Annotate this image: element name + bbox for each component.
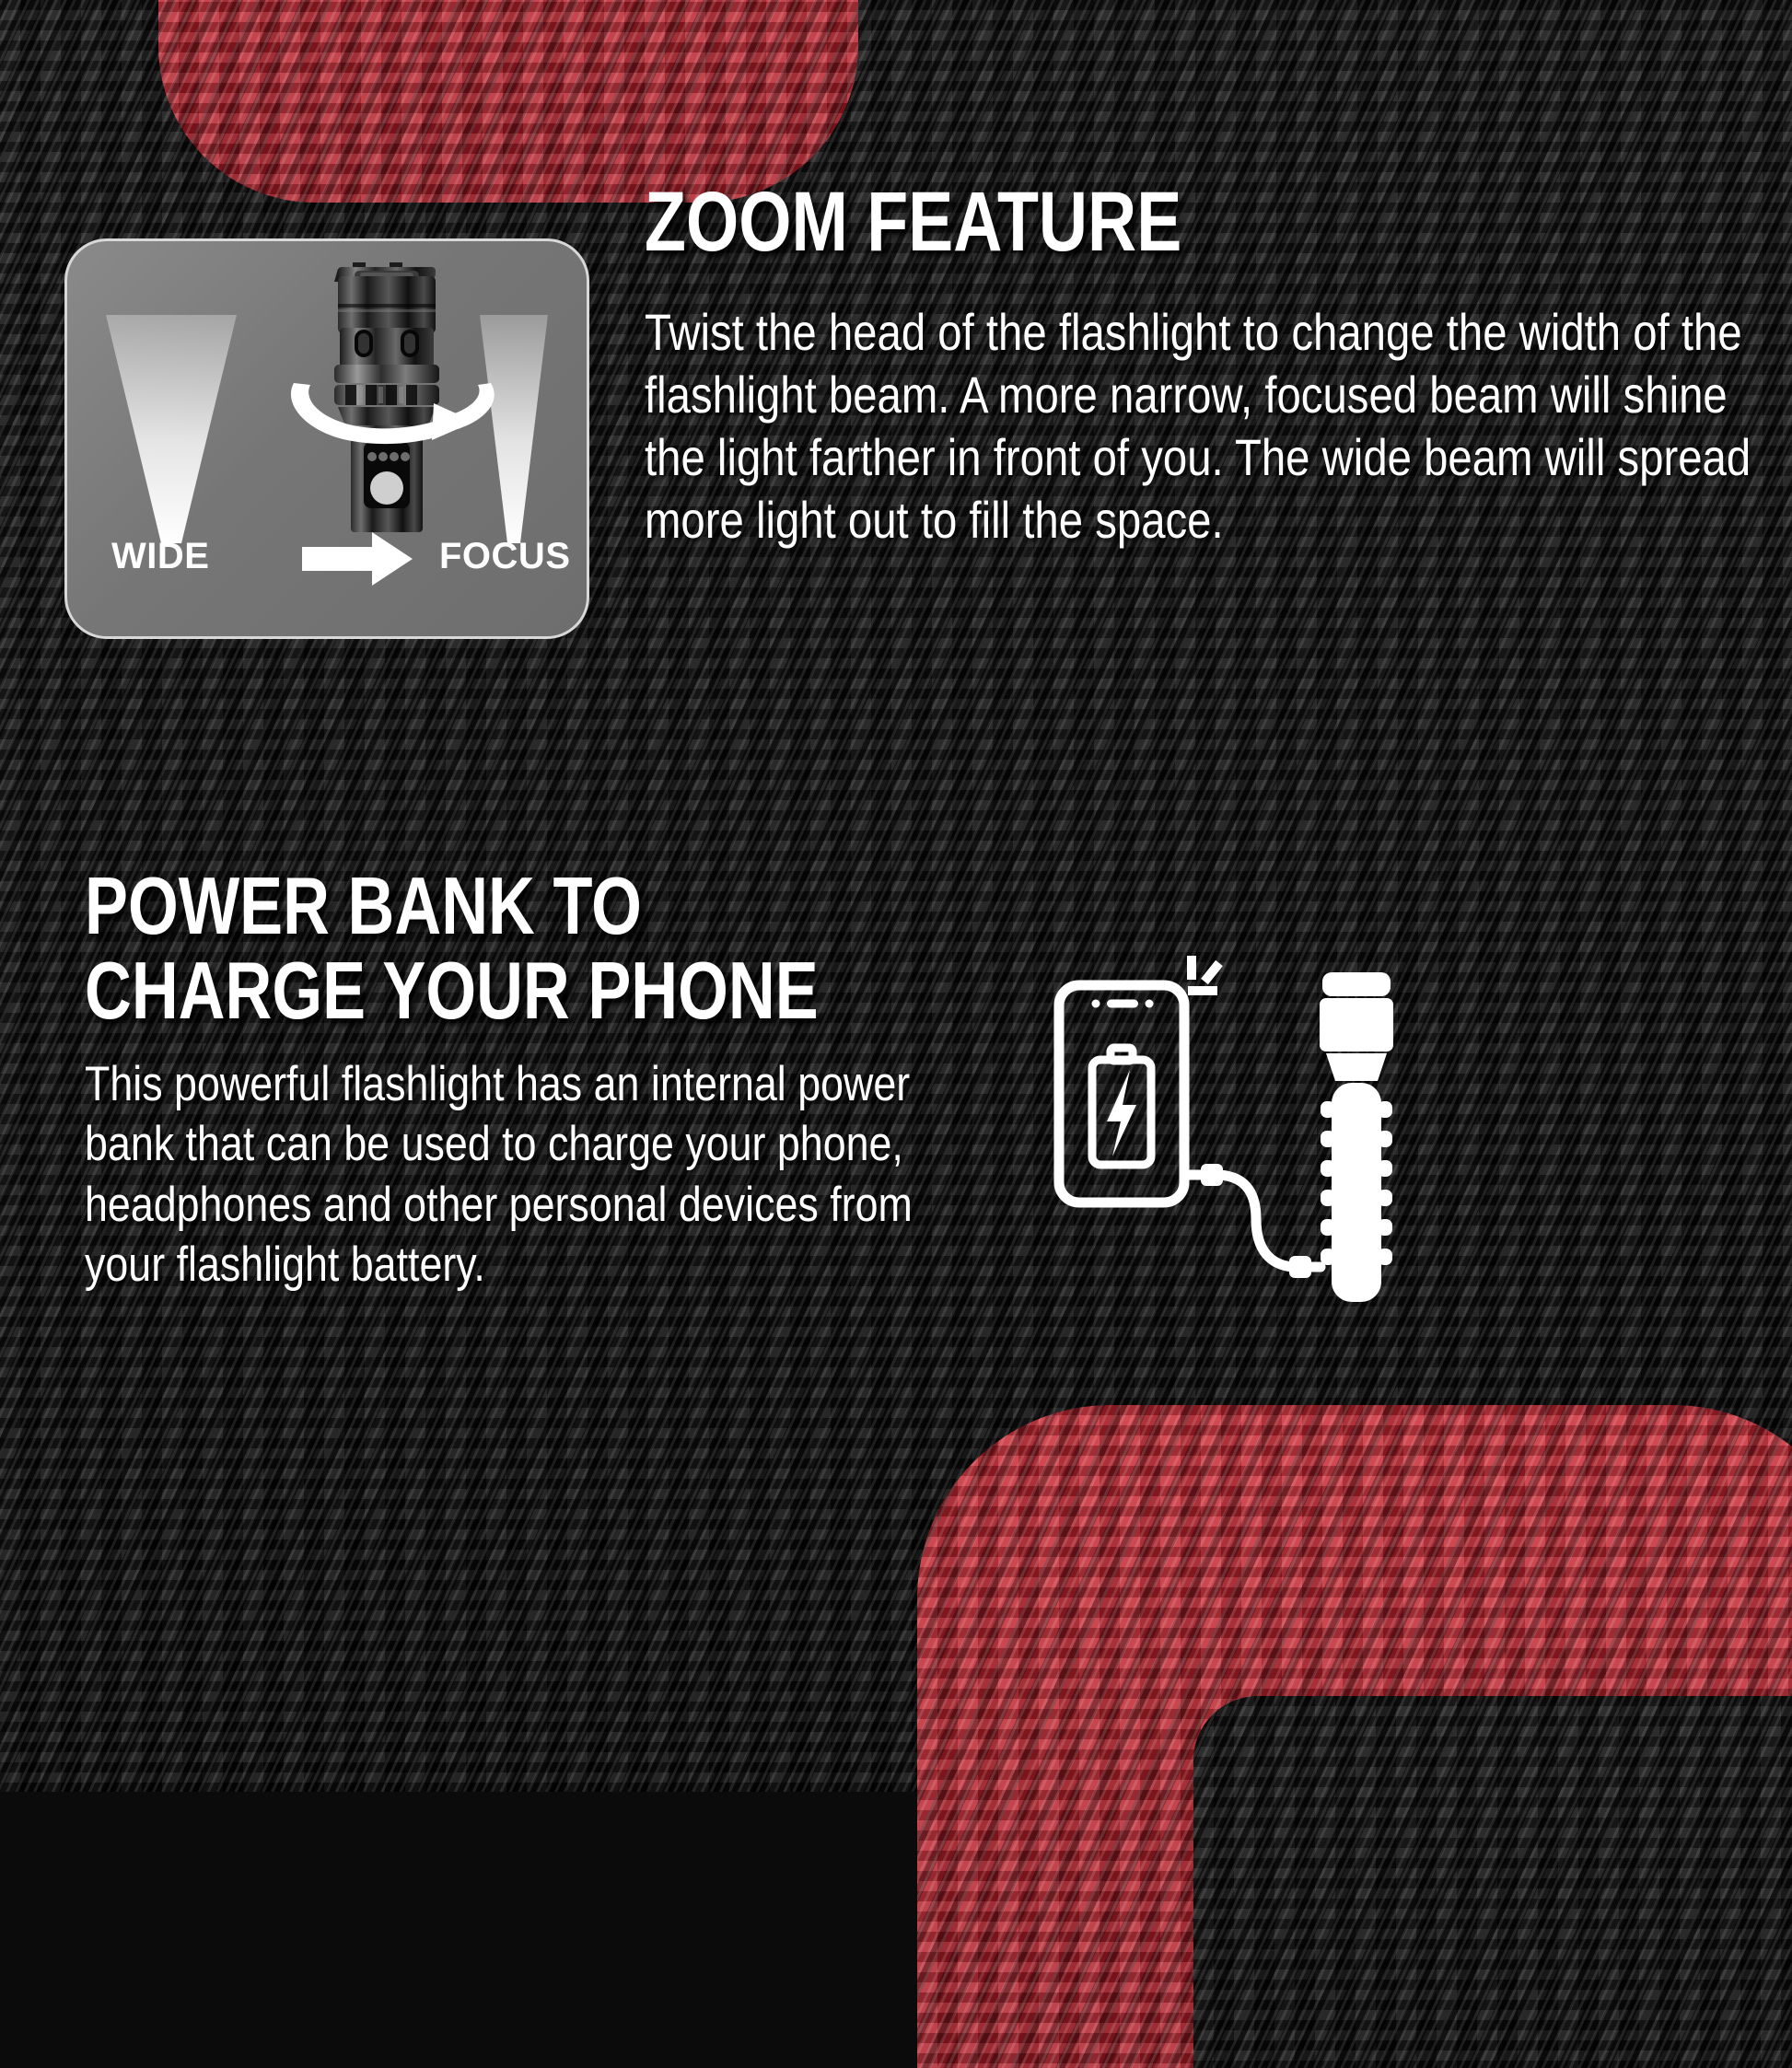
zoom-feature-card: WIDE FOCUS [64, 238, 589, 639]
red-hook-shape-top [158, 0, 858, 203]
red-hook-top-body [158, 0, 858, 203]
charging-illustration [1039, 947, 1425, 1333]
flashlight-icon [1320, 972, 1393, 1302]
spark-lines-icon [1188, 956, 1219, 991]
power-bank-body: This powerful flashlight has an internal… [85, 1054, 960, 1295]
label-focus: FOCUS [439, 536, 571, 577]
power-bank-title-line1: POWER BANK TO [85, 864, 819, 948]
wide-beam-cone-icon [93, 315, 250, 545]
zoom-feature-title: ZOOM FEATURE [645, 182, 1181, 262]
rotate-arrow-icon [277, 359, 507, 451]
power-bank-title-line2: CHARGE YOUR PHONE [85, 948, 819, 1033]
label-wide: WIDE [111, 536, 209, 577]
red-hook-shape-bottom [917, 1405, 1792, 2068]
zoom-feature-body: Twist the head of the flashlight to chan… [645, 301, 1788, 552]
red-hook-bottom-notch [1193, 1696, 1792, 2068]
lightning-bolt-icon [1107, 1070, 1136, 1156]
charging-cable-icon [1184, 1175, 1321, 1267]
power-bank-title: POWER BANK TO CHARGE YOUR PHONE [85, 864, 819, 1034]
right-arrow-icon [302, 532, 413, 586]
